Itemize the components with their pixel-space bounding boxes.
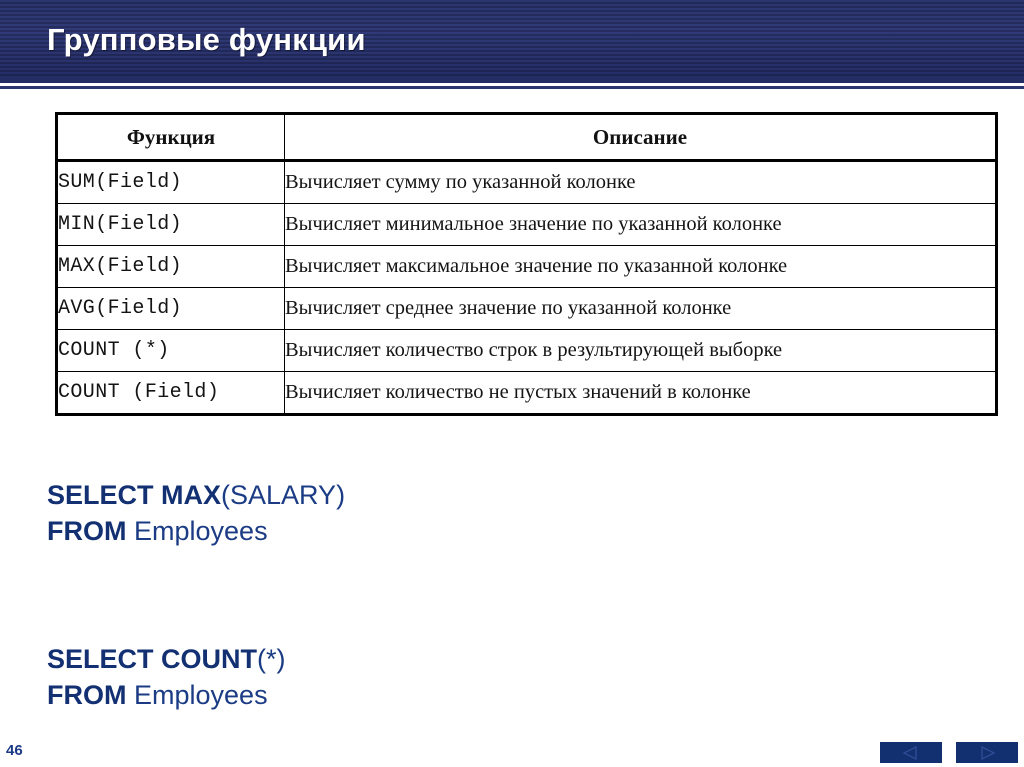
cell-function-description: Вычисляет количество строк в результирую… bbox=[285, 330, 997, 372]
cell-function-description: Вычисляет среднее значение по указанной … bbox=[285, 288, 997, 330]
sql-keyword-from: FROM bbox=[47, 516, 134, 546]
sql-line-select: SELECT MAX(SALARY) bbox=[47, 477, 345, 513]
table-row: COUNT (Field) Вычисляет количество не пу… bbox=[57, 372, 997, 415]
cell-function-name: COUNT (*) bbox=[57, 330, 285, 372]
sql-arg-salary: (SALARY) bbox=[221, 480, 345, 510]
page-title: Групповые функции bbox=[47, 22, 366, 58]
triangle-left-icon bbox=[900, 745, 922, 761]
next-slide-button[interactable] bbox=[956, 742, 1018, 763]
group-functions-table-container: Функция Описание SUM(Field) Вычисляет су… bbox=[55, 112, 995, 416]
sql-table-employees: Employees bbox=[134, 516, 268, 546]
cell-function-name: COUNT (Field) bbox=[57, 372, 285, 415]
cell-function-description: Вычисляет количество не пустых значений … bbox=[285, 372, 997, 415]
sql-arg-star: (*) bbox=[257, 644, 286, 674]
table-row: MAX(Field) Вычисляет максимальное значен… bbox=[57, 246, 997, 288]
sql-example-count: SELECT COUNT(*) FROM Employees bbox=[47, 641, 286, 713]
sql-keyword-from: FROM bbox=[47, 680, 134, 710]
cell-function-description: Вычисляет максимальное значение по указа… bbox=[285, 246, 997, 288]
cell-function-description: Вычисляет сумму по указанной колонке bbox=[285, 161, 997, 204]
header-divider-thin bbox=[0, 86, 1024, 89]
table-row: AVG(Field) Вычисляет среднее значение по… bbox=[57, 288, 997, 330]
sql-keyword-select-count: SELECT COUNT bbox=[47, 644, 257, 674]
sql-keyword-select-max: SELECT MAX bbox=[47, 480, 221, 510]
sql-table-employees: Employees bbox=[134, 680, 268, 710]
sql-line-select: SELECT COUNT(*) bbox=[47, 641, 286, 677]
cell-function-name: SUM(Field) bbox=[57, 161, 285, 204]
cell-function-name: MAX(Field) bbox=[57, 246, 285, 288]
column-header-function: Функция bbox=[57, 114, 285, 161]
table-row: COUNT (*) Вычисляет количество строк в р… bbox=[57, 330, 997, 372]
cell-function-name: AVG(Field) bbox=[57, 288, 285, 330]
sql-line-from: FROM Employees bbox=[47, 677, 286, 713]
cell-function-description: Вычисляет минимальное значение по указан… bbox=[285, 204, 997, 246]
table-header-row: Функция Описание bbox=[57, 114, 997, 161]
column-header-description: Описание bbox=[285, 114, 997, 161]
group-functions-table: Функция Описание SUM(Field) Вычисляет су… bbox=[55, 112, 998, 416]
table-row: MIN(Field) Вычисляет минимальное значени… bbox=[57, 204, 997, 246]
table-body: SUM(Field) Вычисляет сумму по указанной … bbox=[57, 161, 997, 415]
cell-function-name: MIN(Field) bbox=[57, 204, 285, 246]
triangle-right-icon bbox=[976, 745, 998, 761]
sql-example-max: SELECT MAX(SALARY) FROM Employees bbox=[47, 477, 345, 549]
slide-navigation bbox=[880, 742, 1020, 764]
sql-line-from: FROM Employees bbox=[47, 513, 345, 549]
page-number: 46 bbox=[6, 742, 23, 759]
table-row: SUM(Field) Вычисляет сумму по указанной … bbox=[57, 161, 997, 204]
previous-slide-button[interactable] bbox=[880, 742, 942, 763]
